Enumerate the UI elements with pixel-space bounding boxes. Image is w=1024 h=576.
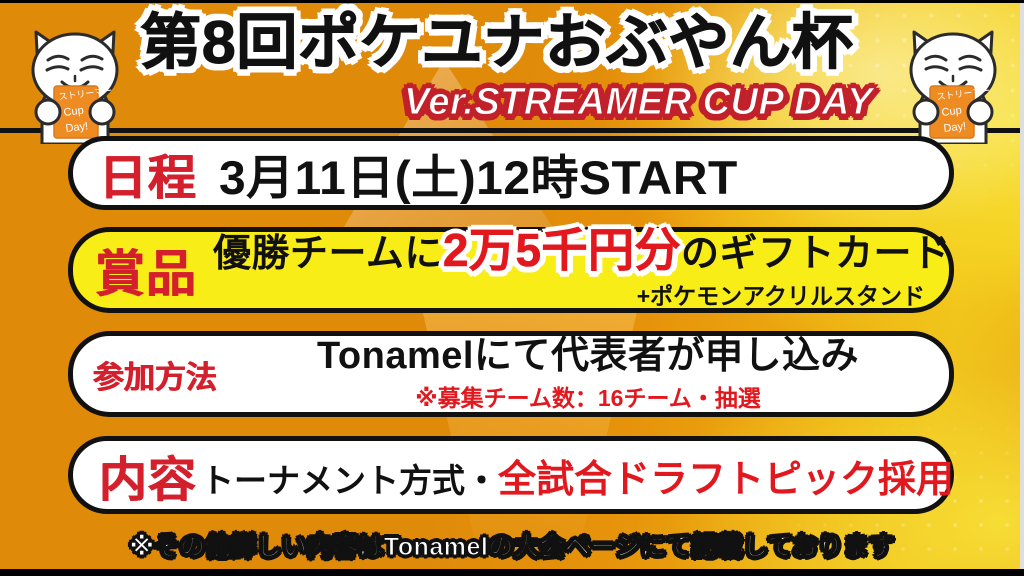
row-label-prize: 賞品 [95,234,197,306]
info-row-schedule: 日程 3月11日(土)12時START [68,136,954,210]
footer-note: ※その他詳しい内容はTonamelの大会ページにて記載しております [0,527,1024,563]
tournament-poster: 第8回ポケユナおぶやん杯 Ver.STREAMER CUP DAY [0,0,1024,576]
row-body-schedule: 3月11日(土)12時START [197,139,949,208]
info-row-prize: 賞品 優勝チームに2万5千円分のギフトカード +ポケモンアクリルスタンド [68,227,954,313]
mascot-cat-right: ストリーマー Cup Day! [892,12,1014,144]
prize-value-note: +ポケモンアクリルスタンド [197,277,949,311]
cat-body-group: ストリーマー Cup Day! [911,32,995,144]
schedule-value: 3月11日(土)12時START [219,139,964,208]
prize-value: 優勝チームに2万5千円分のギフトカード [197,229,949,275]
entry-value-note: ※募集チーム数：16チーム・抽選 [217,379,949,413]
info-row-entry: 参加方法 Tonamelにて代表者が申し込み ※募集チーム数：16チーム・抽選 [68,331,954,417]
row-body-prize: 優勝チームに2万5千円分のギフトカード +ポケモンアクリルスタンド [197,229,949,311]
info-row-format: 内容 トーナメント方式・全試合ドラフトピック採用 [68,436,954,514]
letterbox-bar-bottom [0,569,1024,576]
prize-value-prefix: 優勝チームに [213,233,443,275]
svg-text:Cup: Cup [63,105,84,119]
prize-value-highlight: 2万5千円分 [443,224,681,276]
row-body-format: トーナメント方式・全試合ドラフトピック採用 [197,448,949,503]
row-body-entry: Tonamelにて代表者が申し込み ※募集チーム数：16チーム・抽選 [217,336,949,413]
page-title: 第8回ポケユナおぶやん杯 [140,11,853,75]
prize-value-suffix: のギフトカード [681,233,951,275]
entry-value: Tonamelにて代表者が申し込み [217,336,949,376]
row-label-schedule: 日程 [99,138,197,208]
letterbox-bar-top [0,0,1024,3]
cat-body-group: ストリーマー Cup Day! [33,32,117,144]
mascot-cat-left: ストリーマー Cup Day! [14,12,136,144]
header: 第8回ポケユナおぶやん杯 Ver.STREAMER CUP DAY [0,3,1024,131]
format-value-highlight: 全試合ドラフトピック採用 [498,459,954,501]
format-value-prefix: トーナメント方式・ [201,462,498,499]
right-edge-strip [1020,3,1024,569]
page-subtitle: Ver.STREAMER CUP DAY [404,81,873,123]
row-label-format: 内容 [99,440,197,510]
svg-text:Cup: Cup [941,105,962,119]
format-value: トーナメント方式・全試合ドラフトピック採用 [197,448,949,503]
header-divider [0,128,1024,133]
row-label-entry: 参加方法 [93,352,217,397]
